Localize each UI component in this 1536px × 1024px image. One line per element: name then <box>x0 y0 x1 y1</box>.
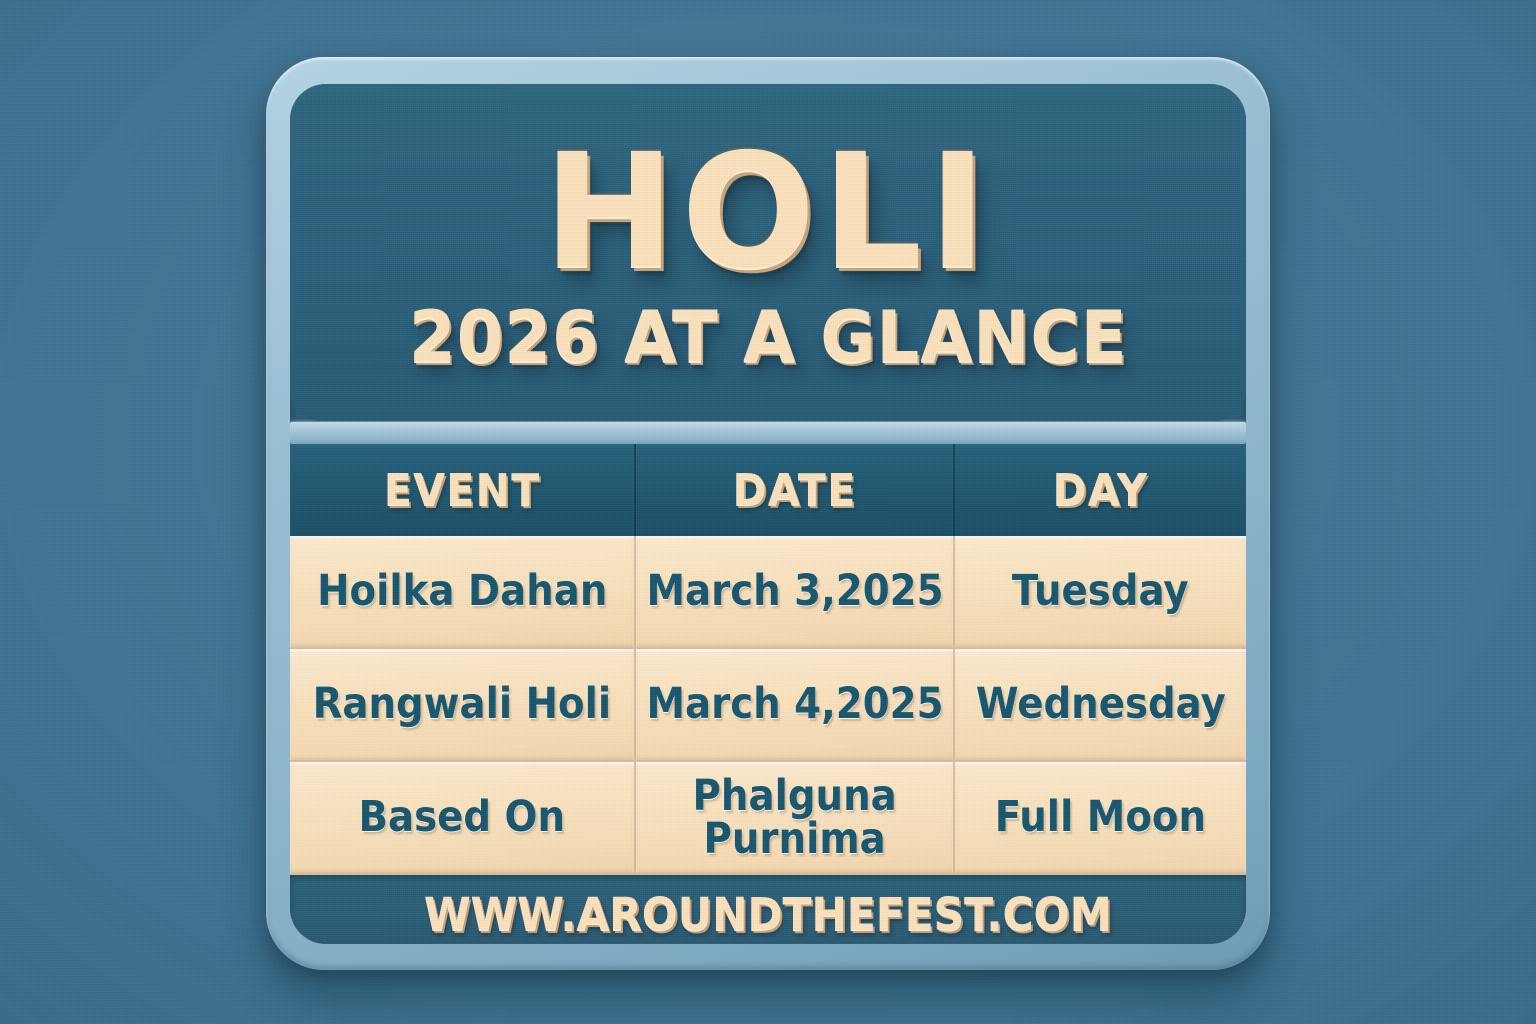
column-header-date-label: DATE <box>733 465 857 516</box>
info-card-frame: HOLI 2026 AT A GLANCE EVENT DATE DAY <box>266 57 1270 970</box>
column-header-day: DAY <box>955 444 1246 536</box>
header-table-divider <box>290 422 1246 444</box>
cell-event-text: Rangwali Holi <box>313 683 612 727</box>
cell-event: Hoilka Dahan <box>290 536 636 649</box>
footer-bar: WWW.AROUNDTHEFEST.COM <box>290 875 1246 944</box>
cell-date: March 3,2025 <box>636 536 955 649</box>
cell-event: Based On <box>290 762 636 875</box>
cell-event-text: Based On <box>359 796 566 840</box>
info-card-inner-panel: HOLI 2026 AT A GLANCE EVENT DATE DAY <box>290 84 1246 944</box>
column-header-date: DATE <box>636 444 955 536</box>
cell-day: Tuesday <box>955 536 1246 649</box>
schedule-table: EVENT DATE DAY Hoilka Dahan March 3,2025 <box>290 444 1246 944</box>
table-row: Hoilka Dahan March 3,2025 Tuesday <box>290 536 1246 649</box>
cell-event-text: Hoilka Dahan <box>317 570 607 614</box>
poster-canvas: HOLI 2026 AT A GLANCE EVENT DATE DAY <box>0 0 1536 1024</box>
table-row: Based On Phalguna Purnima Full Moon <box>290 762 1246 875</box>
cell-day: Full Moon <box>955 762 1246 875</box>
cell-day: Wednesday <box>955 649 1246 762</box>
cell-event: Rangwali Holi <box>290 649 636 762</box>
cell-date: Phalguna Purnima <box>636 762 955 875</box>
column-header-event-label: EVENT <box>384 465 541 516</box>
header-panel: HOLI 2026 AT A GLANCE <box>290 84 1246 421</box>
column-header-day-label: DAY <box>1053 465 1149 516</box>
cell-date-text: March 3,2025 <box>646 570 943 614</box>
table-header-row: EVENT DATE DAY <box>290 444 1246 536</box>
page-subtitle: 2026 AT A GLANCE <box>409 302 1128 372</box>
page-title: HOLI <box>543 137 993 287</box>
table-row: Rangwali Holi March 4,2025 Wednesday <box>290 649 1246 762</box>
column-header-event: EVENT <box>290 444 636 536</box>
cell-date: March 4,2025 <box>636 649 955 762</box>
cell-day-text: Tuesday <box>1012 570 1189 614</box>
cell-day-text: Wednesday <box>976 683 1226 727</box>
cell-date-text: Phalguna Purnima <box>661 775 929 861</box>
website-url: WWW.AROUNDTHEFEST.COM <box>424 888 1112 941</box>
cell-day-text: Full Moon <box>995 796 1206 840</box>
cell-date-text: March 4,2025 <box>646 683 943 727</box>
